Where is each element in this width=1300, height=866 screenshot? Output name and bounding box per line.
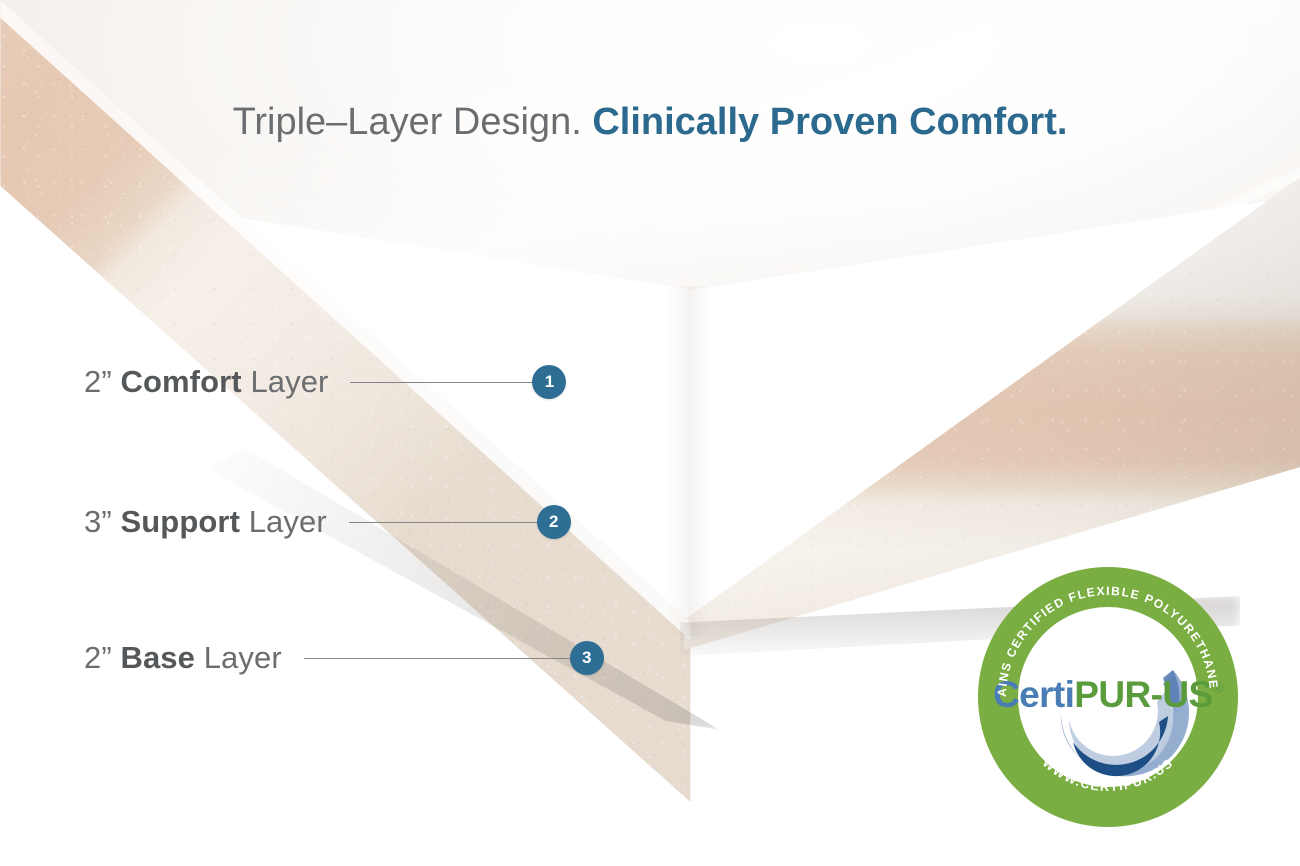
base-layer-suffix: Layer xyxy=(204,640,282,675)
page-title: Triple–Layer Design. Clinically Proven C… xyxy=(0,96,1300,148)
comfort-layer-suffix: Layer xyxy=(250,364,328,399)
leader-line-support xyxy=(349,522,539,523)
leader-line-base xyxy=(304,658,572,659)
comfort-thickness: 2” xyxy=(84,364,112,399)
support-thickness: 3” xyxy=(84,504,112,539)
support-layer-suffix: Layer xyxy=(249,504,327,539)
certipur-us-badge: CertiPUR-US® CONTAINS CERTIFIED FLEXIBLE… xyxy=(977,566,1239,828)
mattress-front-corner-seam xyxy=(666,286,710,636)
base-thickness: 2” xyxy=(84,640,112,675)
callout-number-badge-2: 2 xyxy=(537,505,571,539)
callout-support-layer: 3” Support Layer 2 xyxy=(84,500,571,544)
leader-line-comfort xyxy=(350,382,534,383)
callout-number-badge-3: 3 xyxy=(570,641,604,675)
callout-comfort-layer: 2” Comfort Layer 1 xyxy=(84,360,566,404)
support-layer-name: Support xyxy=(120,504,240,539)
badge-brand-suffix: PUR-US xyxy=(1074,674,1212,715)
headline-part-gray: Triple–Layer Design. xyxy=(233,101,582,143)
callout-base-layer: 2” Base Layer 3 xyxy=(84,636,604,680)
comfort-layer-name: Comfort xyxy=(120,364,241,399)
product-infographic: Triple–Layer Design. Clinically Proven C… xyxy=(0,0,1300,866)
callout-label-comfort: 2” Comfort Layer xyxy=(84,360,328,404)
callout-number-badge-1: 1 xyxy=(532,365,566,399)
callout-label-support: 3” Support Layer xyxy=(84,500,327,544)
base-layer-name: Base xyxy=(120,640,195,675)
badge-wordmark: CertiPUR-US® xyxy=(993,674,1224,715)
callout-label-base: 2” Base Layer xyxy=(84,636,282,680)
headline-part-blue: Clinically Proven Comfort. xyxy=(592,101,1067,143)
